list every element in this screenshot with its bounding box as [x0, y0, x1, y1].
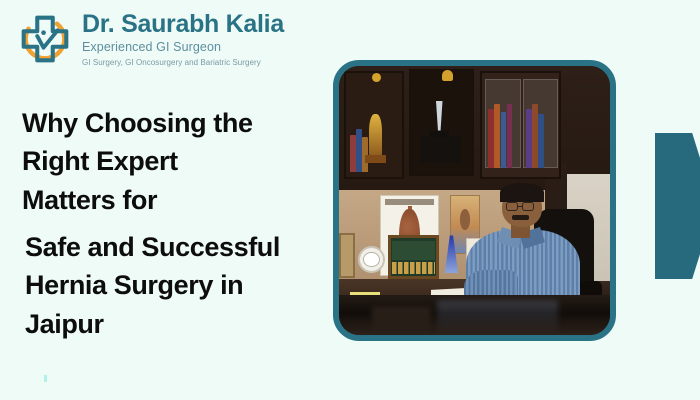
eyeglasses-bridge [518, 206, 522, 207]
headline-line: Jaipur [25, 305, 322, 343]
decorative-idol [369, 114, 383, 157]
shelf-ornament-left [372, 73, 381, 82]
brand-text-group: Dr. Saurabh Kalia Experienced GI Surgeon… [82, 9, 284, 69]
doctor-photo-frame [333, 60, 616, 341]
book [488, 109, 494, 168]
headline-line: Matters for [22, 181, 322, 219]
book [501, 112, 507, 168]
book [350, 135, 356, 173]
headline-line: Right Expert [22, 142, 322, 180]
shelf-black-box [420, 136, 461, 163]
page-title: Why Choosing the Right Expert Matters fo… [22, 104, 322, 343]
eyeglasses-left-lens [506, 202, 518, 211]
brand-specialties: GI Surgery, GI Oncosurgery and Bariatric… [82, 57, 284, 69]
brand-logo-block[interactable]: Dr. Saurabh Kalia Experienced GI Surgeon… [14, 8, 284, 70]
chevron-accent-shape [655, 133, 700, 279]
headline-line: Why Choosing the [22, 104, 322, 142]
brand-name: Dr. Saurabh Kalia [82, 11, 284, 39]
anatomy-poster-title [385, 199, 434, 204]
doctor-moustache [512, 215, 528, 220]
headline-line: Hernia Surgery in [25, 266, 322, 304]
book [532, 104, 538, 169]
award-plaque-medals [392, 262, 435, 274]
decorative-mark [44, 375, 47, 382]
headline-line: Safe and Successful [25, 228, 322, 266]
book [526, 109, 532, 168]
eyeglasses-right-lens [522, 202, 534, 211]
trophy-base [430, 131, 449, 138]
book [538, 114, 544, 168]
doctor-photo [339, 66, 610, 335]
award-plaque-inset [392, 241, 435, 260]
brand-subtitle: Experienced GI Surgeon [82, 38, 284, 57]
desk-reflection [437, 300, 559, 335]
banner: Dr. Saurabh Kalia Experienced GI Surgeon… [0, 0, 700, 400]
book [507, 104, 513, 169]
doctor-hair [500, 183, 543, 202]
headline-block-one: Why Choosing the Right Expert Matters fo… [22, 104, 322, 219]
shelf-ornament-center [442, 70, 453, 81]
medical-cross-check-icon [14, 8, 76, 70]
book [494, 104, 500, 169]
headline-block-two: Safe and Successful Hernia Surgery in Ja… [22, 228, 322, 343]
plate-inner [363, 252, 379, 267]
idol-base [365, 155, 387, 163]
desk-reflection-secondary [372, 308, 432, 332]
framed-certificate-left [339, 233, 355, 279]
book [356, 129, 362, 172]
